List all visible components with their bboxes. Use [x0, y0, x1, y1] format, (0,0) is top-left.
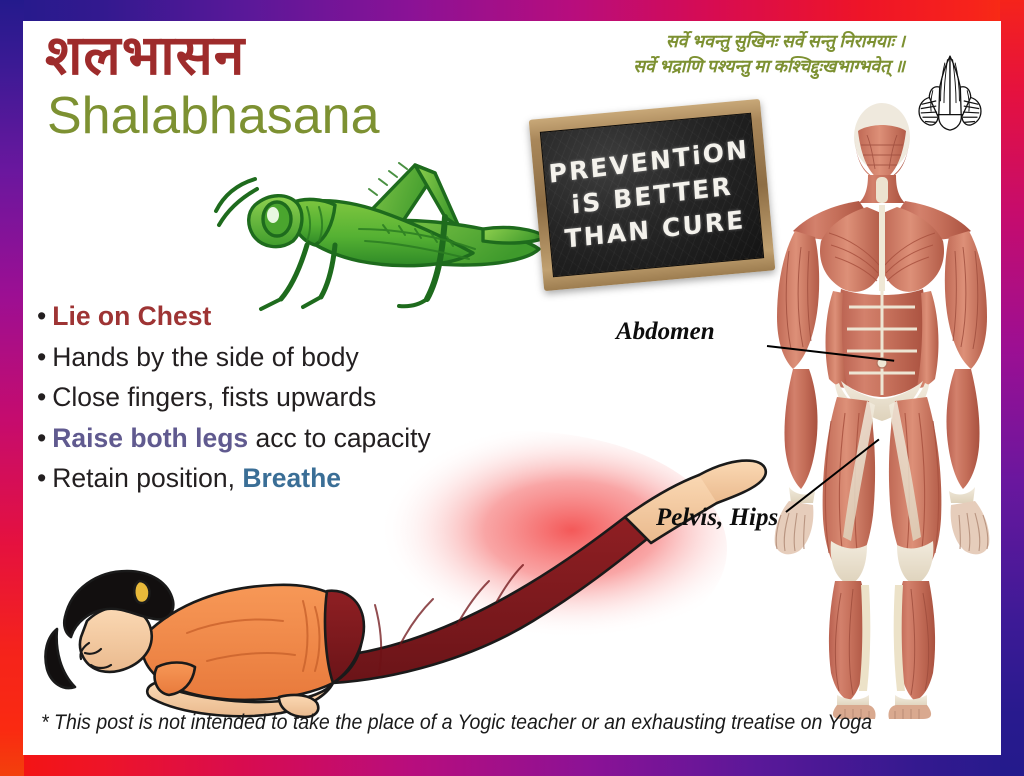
- instruction-text: Lie on Chest: [52, 301, 211, 331]
- instruction-text: Close fingers, fists upwards: [52, 382, 376, 412]
- chalkboard-prevention-quote: PREVENTiON iS BETTER THAN CURE: [529, 99, 776, 291]
- bullet-marker: •: [37, 382, 46, 412]
- chalkboard-text: PREVENTiON iS BETTER THAN CURE: [529, 99, 776, 291]
- list-item: •Lie on Chest: [37, 296, 507, 337]
- page-title-sanskrit: शलभासन: [45, 27, 245, 85]
- border-right: [1000, 0, 1024, 776]
- poster-canvas: शलभासन Shalabhasana सर्वे भवन्तु सुखिनः …: [23, 21, 1001, 755]
- shloka-line-1: सर्वे भवन्तु सुखिनः सर्वे सन्तु निरामयाः…: [475, 29, 905, 54]
- list-item: •Close fingers, fists upwards: [37, 377, 507, 418]
- instruction-text: Hands by the side of body: [52, 342, 358, 372]
- shloka-line-2: सर्वे भद्राणि पश्यन्तु मा कश्चिद्दुःखभाग…: [475, 54, 905, 79]
- border-bottom: [0, 754, 1024, 776]
- list-item: •Hands by the side of body: [37, 337, 507, 378]
- poster-root: शलभासन Shalabhasana सर्वे भवन्तु सुखिनः …: [0, 0, 1024, 776]
- border-top: [0, 0, 1024, 22]
- bullet-marker: •: [37, 342, 46, 372]
- muscle-anatomy-figure: [763, 101, 1001, 719]
- annotation-pelvis-hips: Pelvis, Hips: [656, 504, 778, 532]
- footer-disclaimer: * This post is not intended to take the …: [41, 711, 923, 735]
- border-left: [0, 0, 24, 776]
- sanskrit-shloka: सर्वे भवन्तु सुखिनः सर्वे सन्तु निरामयाः…: [475, 29, 905, 80]
- annotation-abdomen: Abdomen: [616, 318, 715, 346]
- bullet-marker: •: [37, 301, 46, 331]
- shalabhasana-pose-illustration: [27, 421, 797, 726]
